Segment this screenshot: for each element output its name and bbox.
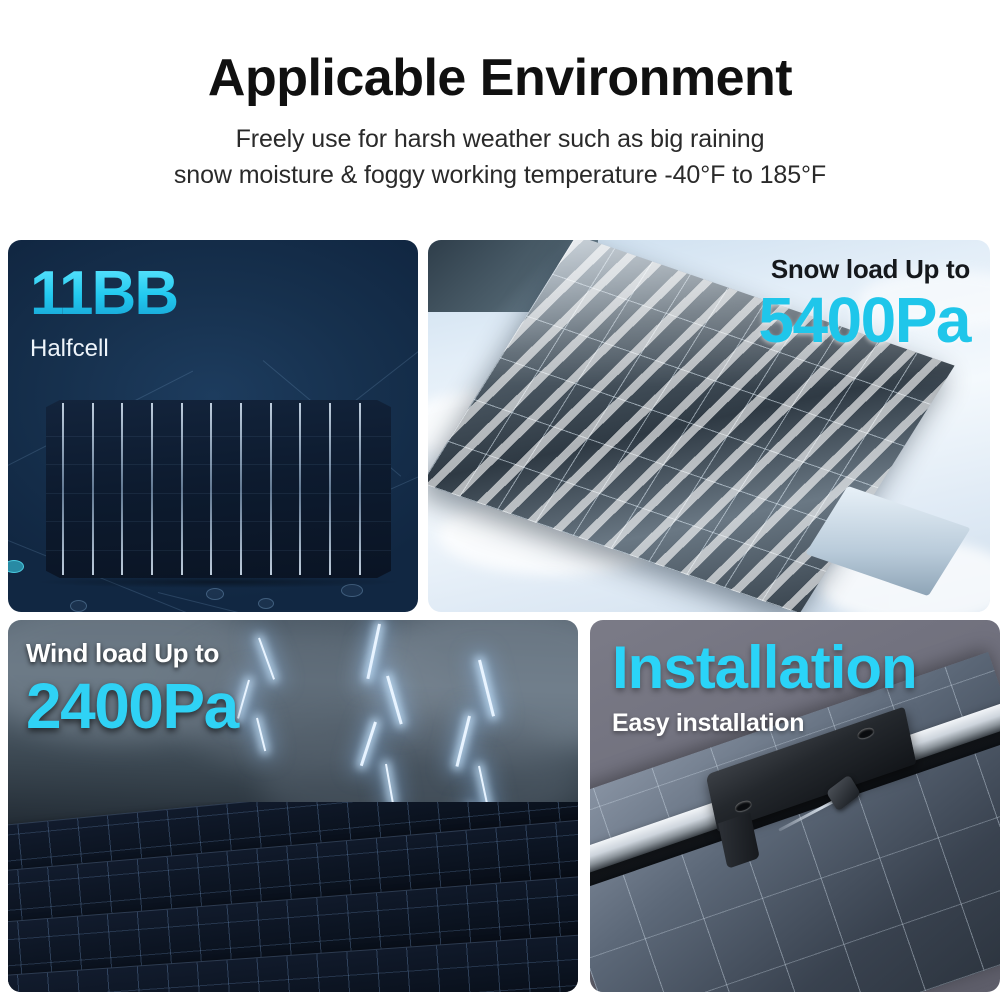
busbar	[210, 403, 212, 575]
solar-panel-array	[8, 802, 578, 992]
busbar	[121, 403, 123, 575]
busbar	[329, 403, 331, 575]
header: Applicable Environment Freely use for ha…	[0, 0, 1000, 232]
panel-halfcell-caption: 11BB Halfcell	[30, 263, 177, 361]
busbar	[359, 403, 361, 575]
installation-subtext: Easy installation	[612, 711, 917, 736]
busbar	[62, 403, 64, 575]
installation-headline: Installation	[612, 638, 917, 698]
circuit-decoration-node	[8, 560, 24, 573]
busbar	[240, 403, 242, 575]
wind-load-value: 2400Pa	[26, 674, 238, 738]
busbar	[270, 403, 272, 575]
subtitle-line-2: snow moisture & foggy working temperatur…	[0, 158, 1000, 194]
busbar	[299, 403, 301, 575]
circuit-decoration-line	[158, 592, 418, 612]
panel-halfcell: 11BB Halfcell	[8, 240, 418, 612]
panel-wind-caption: Wind load Up to 2400Pa	[26, 640, 238, 738]
snow-load-value: 5400Pa	[758, 288, 970, 352]
halfcell-headline: 11BB	[30, 263, 177, 325]
solar-cell-graphic	[46, 400, 391, 578]
panel-installation-caption: Installation Easy installation	[612, 638, 917, 736]
page-title: Applicable Environment	[0, 0, 1000, 106]
subtitle-line-1: Freely use for harsh weather such as big…	[0, 122, 1000, 158]
panel-snow-load: Snow load Up to 5400Pa	[428, 240, 990, 612]
circuit-decoration-node	[258, 598, 274, 609]
circuit-decoration-node	[70, 600, 87, 612]
busbar	[151, 403, 153, 575]
panel-wind-load: Wind load Up to 2400Pa	[8, 620, 578, 992]
busbar	[92, 403, 94, 575]
busbar	[181, 403, 183, 575]
snow-load-label: Snow load Up to	[758, 256, 970, 282]
subtitle-block: Freely use for harsh weather such as big…	[0, 122, 1000, 193]
bracket-screw-hole	[734, 799, 752, 813]
panel-installation: Installation Easy installation	[590, 620, 1000, 992]
circuit-decoration-node	[206, 588, 224, 600]
panel-snow-caption: Snow load Up to 5400Pa	[758, 256, 970, 352]
wind-load-label: Wind load Up to	[26, 640, 238, 666]
halfcell-subtext: Halfcell	[30, 337, 177, 361]
